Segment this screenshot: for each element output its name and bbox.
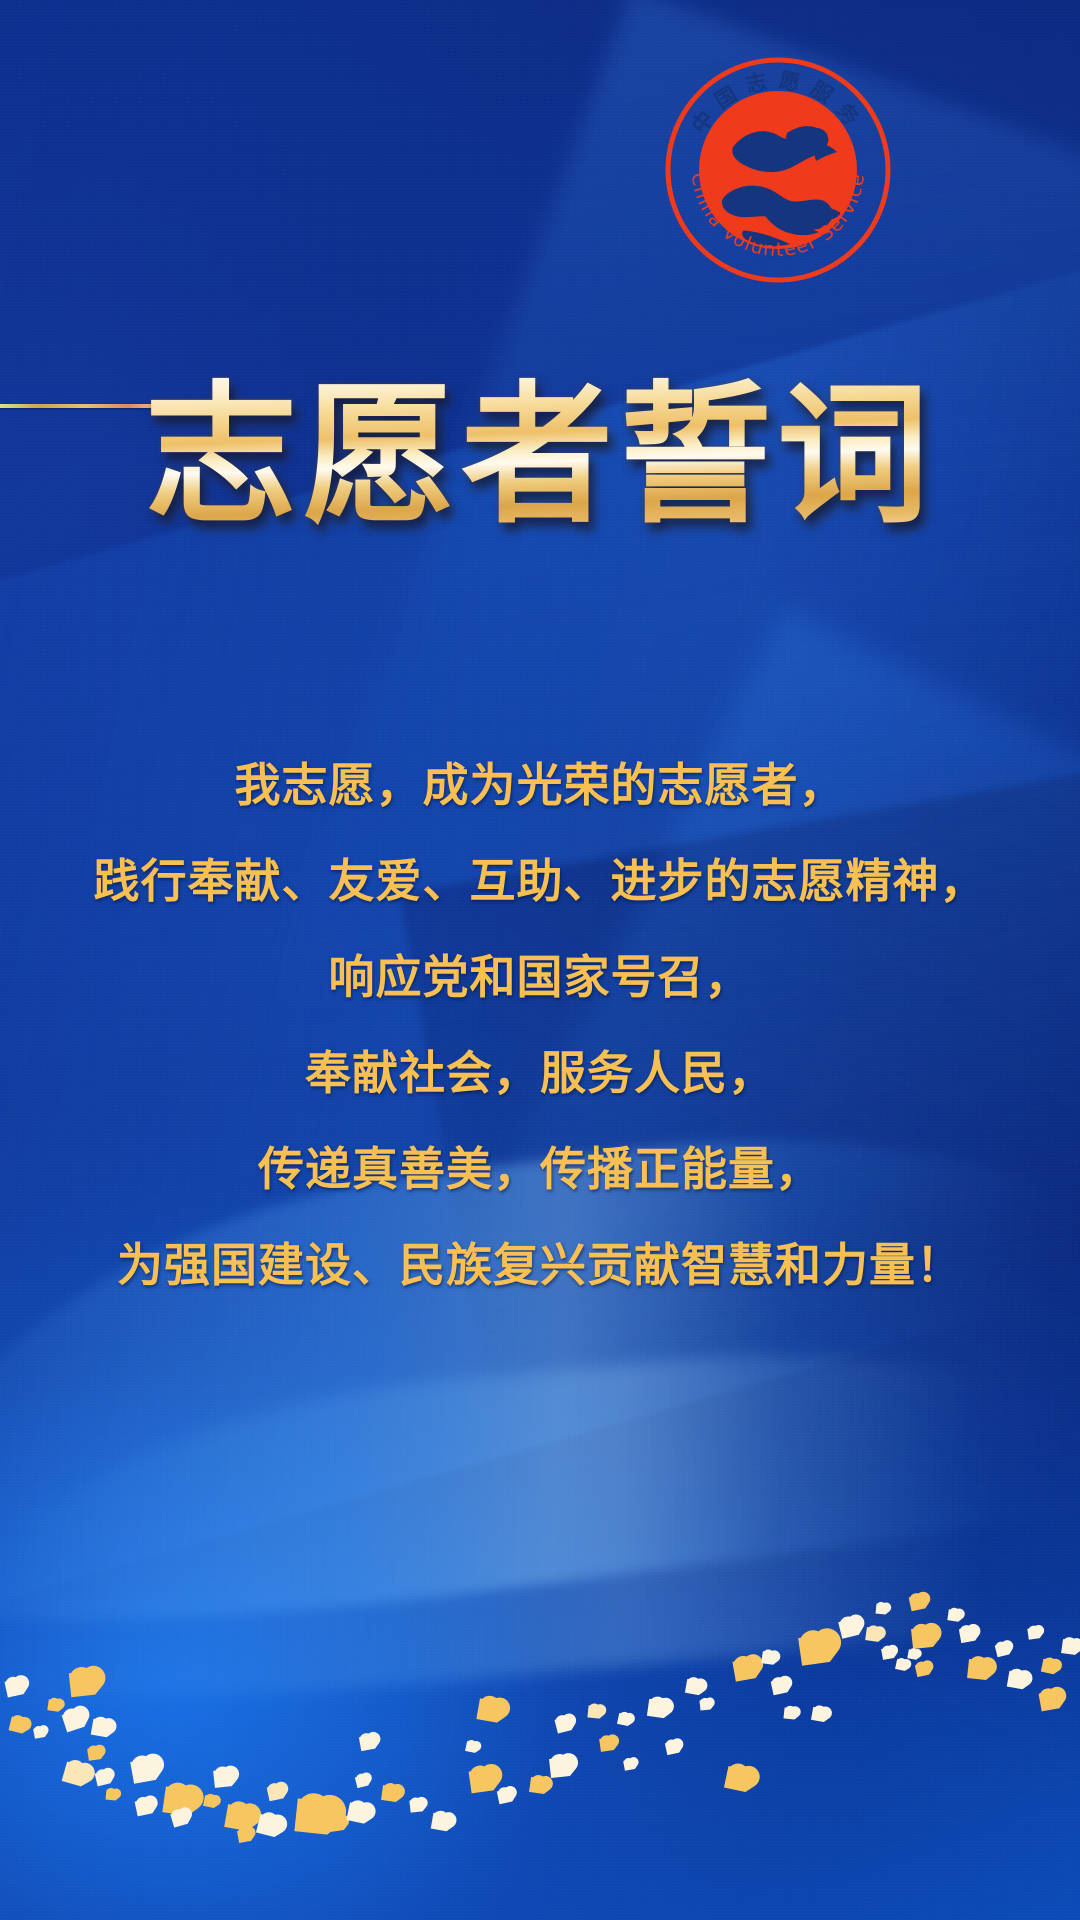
heart-icon <box>865 1627 880 1642</box>
oath-line: 传递真善美，传播正能量， <box>0 1146 1080 1192</box>
heart-icon <box>959 1627 975 1643</box>
heart-icon <box>256 1814 279 1837</box>
oath-line: 我志愿，成为光荣的志愿者， <box>0 762 1080 808</box>
heart-icon <box>761 1651 775 1665</box>
china-volunteer-service-logo: 中国志愿服务 China Volunteer Service <box>663 55 893 285</box>
heart-icon <box>346 1802 367 1823</box>
heart-icon <box>555 1717 572 1734</box>
heart-icon <box>549 1757 570 1778</box>
oath-line: 为强国建设、民族复兴贡献智慧和力量！ <box>0 1242 1080 1288</box>
background-ribbon-6 <box>0 1316 1080 1725</box>
heart-icon <box>62 1710 85 1733</box>
heart-icon <box>798 1634 830 1666</box>
heart-icon <box>5 1679 24 1698</box>
heart-icon <box>476 1698 500 1722</box>
heart-icon <box>1041 1659 1056 1674</box>
heart-icon <box>599 1737 614 1752</box>
heart-icon <box>665 1741 679 1755</box>
heart-icon <box>895 1659 907 1671</box>
heart-icon <box>724 1766 750 1792</box>
heart-icon <box>170 1810 187 1827</box>
heart-icon <box>1027 1627 1039 1639</box>
heart-icon <box>213 1769 232 1788</box>
heart-icon <box>95 1771 111 1787</box>
heart-icon <box>700 1700 711 1711</box>
heart-icon <box>106 1790 117 1801</box>
heart-icon <box>811 1707 826 1722</box>
heart-icon <box>469 1769 494 1794</box>
heart-icon <box>909 1595 926 1612</box>
heart-icon <box>87 1747 101 1761</box>
heart-icon <box>203 1795 216 1808</box>
heart-icon <box>647 1699 666 1718</box>
heart-icon <box>995 1643 1010 1658</box>
heart-icon <box>409 1799 422 1812</box>
heart-icon <box>617 1713 630 1726</box>
heart-icon <box>91 1719 110 1738</box>
heart-icon <box>876 1604 887 1615</box>
heart-icon <box>381 1785 398 1802</box>
heart-icon <box>465 1741 477 1753</box>
page-title: 志愿者誓词 <box>0 374 1080 538</box>
heart-icon <box>881 1647 894 1660</box>
poster-root: 中国志愿服务 China Volunteer Service 志愿者誓词 我志愿… <box>0 0 1080 1920</box>
heart-icon <box>915 1663 929 1677</box>
heart-icon <box>838 1618 859 1639</box>
heart-icon <box>162 1786 191 1815</box>
heart-icon <box>355 1775 368 1788</box>
heart-icon <box>237 1829 251 1843</box>
heart-icon <box>130 1758 155 1783</box>
heart-icon <box>529 1777 546 1794</box>
oath-line: 践行奉献、友爱、互助、进步的志愿精神， <box>0 858 1080 904</box>
heart-icon <box>135 1799 153 1817</box>
heart-icon <box>267 1785 284 1802</box>
heart-icon <box>771 1679 788 1696</box>
oath-text-block: 我志愿，成为光荣的志愿者， 践行奉献、友爱、互助、进步的志愿精神， 响应党和国家… <box>0 762 1080 1288</box>
heart-icon <box>47 1699 59 1711</box>
heart-icon <box>329 1817 344 1832</box>
heart-icon <box>497 1789 512 1804</box>
heart-icon <box>947 1609 959 1621</box>
heart-icon <box>9 1717 26 1734</box>
heart-icon <box>431 1813 450 1832</box>
heart-icon <box>359 1735 375 1751</box>
heart-icon <box>911 1627 933 1649</box>
heart-icon <box>732 1658 755 1681</box>
heart-icon <box>69 1671 95 1697</box>
heart-icon <box>1007 1671 1026 1690</box>
heart-icon <box>1039 1691 1060 1712</box>
heart-icon <box>623 1759 635 1771</box>
heart-icon <box>62 1762 87 1787</box>
heart-icon <box>294 1798 330 1834</box>
oath-line: 奉献社会，服务人民， <box>0 1050 1080 1096</box>
heart-icon <box>907 1649 917 1659</box>
oath-line: 响应党和国家号召， <box>0 954 1080 1000</box>
heart-icon <box>783 1707 795 1719</box>
heart-icon <box>587 1705 600 1718</box>
heart-icon <box>967 1659 988 1680</box>
heart-icon <box>224 1804 251 1831</box>
heart-icon <box>1061 1639 1077 1655</box>
heart-icon <box>685 1679 701 1695</box>
heart-icon <box>33 1727 45 1739</box>
